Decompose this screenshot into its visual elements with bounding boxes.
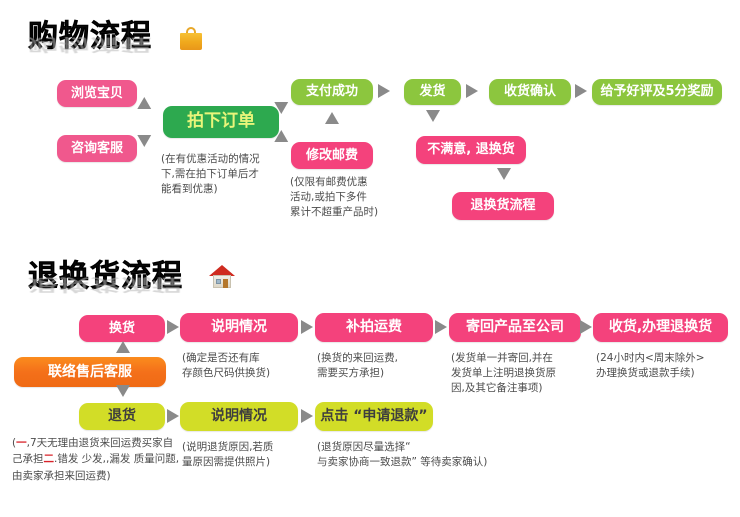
note-line: 存颜色尺码供换货) [182,366,310,381]
arrow-postage-to-payment [325,112,339,124]
house-window [216,279,221,284]
section-title-text: 购物流程 购物流程 [28,22,152,52]
note-send-back: (发货单一并寄回,并在 发货单上注明退换货原 因,及其它备注事项) [451,351,591,397]
arrow-explain-to-refund [301,409,313,423]
arrow-freight-to-sendback [435,320,447,334]
bag-body [180,33,202,50]
note-line: (换货的来回运费, [317,351,445,366]
section-title-reflection: 购物流程 [28,36,152,53]
node-modify-postage[interactable]: 修改邮费 [291,142,373,169]
arrow-payment-to-ship [378,84,390,98]
node-payment-success[interactable]: 支付成功 [291,79,373,105]
section-title-text: 退换货流程 退换货流程 [28,262,183,292]
note-line: 因,及其它备注事项) [451,381,591,396]
node-browse-items[interactable]: 浏览宝贝 [57,80,137,107]
note-segment-red: 一 [16,437,27,449]
arrow-exchange-to-explain [167,320,179,334]
section-title-shopping: 购物流程 购物流程 [28,22,152,52]
node-unsatisfied-return[interactable]: 不满意, 退换货 [416,136,526,164]
shopping-bag-icon [180,26,202,50]
node-confirm-receipt[interactable]: 收货确认 [489,79,571,105]
note-line: (发货单一并寄回,并在 [451,351,591,366]
note-line: 活动,或拍下多件 [290,190,410,205]
note-return-freight-policy: (一,7天无理由退货来回运费买家自己承担二.错发 少发,,漏发 质量问题,由卖家… [12,435,182,484]
node-ship[interactable]: 发货 [404,79,461,105]
note-receive-timeframe: (24小时内<周末除外> 办理换货或退款手续) [596,351,736,381]
note-postage-condition: (仅限有邮费优惠 活动,或拍下多件 累计不超重产品时) [290,175,410,221]
arrow-sendback-to-receive [580,320,592,334]
node-return-process-link[interactable]: 退换货流程 [452,192,554,220]
note-line: 发货单上注明退换货原 [451,366,591,381]
node-return-explain[interactable]: 说明情况 [180,402,298,431]
node-place-order[interactable]: 拍下订单 [163,106,279,138]
arrow-contact-to-order [137,129,154,147]
section-title-returns: 退换货流程 退换货流程 [28,262,183,292]
arrow-service-to-exchange [116,341,130,353]
note-order-discount: (在有优惠活动的情况 下,需在拍下订单后才 能看到优惠) [161,152,287,198]
house-icon [209,265,235,289]
arrow-explain-to-freight [301,320,313,334]
arrow-service-to-return [116,385,130,397]
arrow-ship-to-confirm [466,84,478,98]
node-contact-service[interactable]: 咨询客服 [57,135,137,162]
node-send-back-to-company[interactable]: 寄回产品至公司 [449,313,581,342]
note-line: (退货原因尽量选择“ [317,440,617,455]
node-receive-and-process[interactable]: 收货,办理退换货 [593,313,728,342]
note-refund-reason: (说明退货原因,若质 量原因需提供照片) [182,440,312,470]
note-line: 办理换货或退款手续) [596,366,736,381]
note-line: (说明退货原因,若质 [182,440,312,455]
section-title-reflection: 退换货流程 [28,276,183,293]
note-refund-click: (退货原因尽量选择“ 与卖家协商一致退款” 等待卖家确认) [317,440,617,470]
note-line: 需要买方承担) [317,366,445,381]
node-return[interactable]: 退货 [79,403,165,430]
note-line: 与卖家协商一致退款” 等待卖家确认) [317,455,617,470]
house-door [223,279,228,288]
note-line: (确定是否还有库 [182,351,310,366]
node-contact-after-sales[interactable]: 联络售后客服 [14,357,166,387]
note-line: 能看到优惠) [161,182,287,197]
arrow-confirm-to-review [575,84,587,98]
note-line: (在有优惠活动的情况 [161,152,287,167]
note-line: 下,需在拍下订单后才 [161,167,287,182]
arrow-unsatisfied-to-process [497,168,511,180]
infographic-canvas: 购物流程 购物流程 浏览宝贝 咨询客服 拍下订单 支付成功 修改邮费 发货 不满… [0,0,740,517]
node-extra-freight[interactable]: 补拍运费 [315,313,433,342]
node-exchange[interactable]: 换货 [79,315,165,342]
node-click-apply-refund[interactable]: 点击 “申请退款” [315,402,433,431]
note-line: 累计不超重产品时) [290,205,410,220]
note-exchange-freight: (换货的来回运费, 需要买方承担) [317,351,445,381]
node-exchange-explain[interactable]: 说明情况 [180,313,298,342]
node-good-review-reward[interactable]: 给予好评及5分奖励 [592,79,722,105]
note-line: (24小时内<周末除外> [596,351,736,366]
note-line: (仅限有邮费优惠 [290,175,410,190]
arrow-ship-to-unsatisfied [426,110,440,122]
note-exchange-stock: (确定是否还有库 存颜色尺码供换货) [182,351,310,381]
arrow-return-to-explain [167,409,179,423]
note-segment-red: 二 [44,453,55,465]
note-line: 量原因需提供照片) [182,455,312,470]
arrow-browse-to-order [137,97,154,115]
